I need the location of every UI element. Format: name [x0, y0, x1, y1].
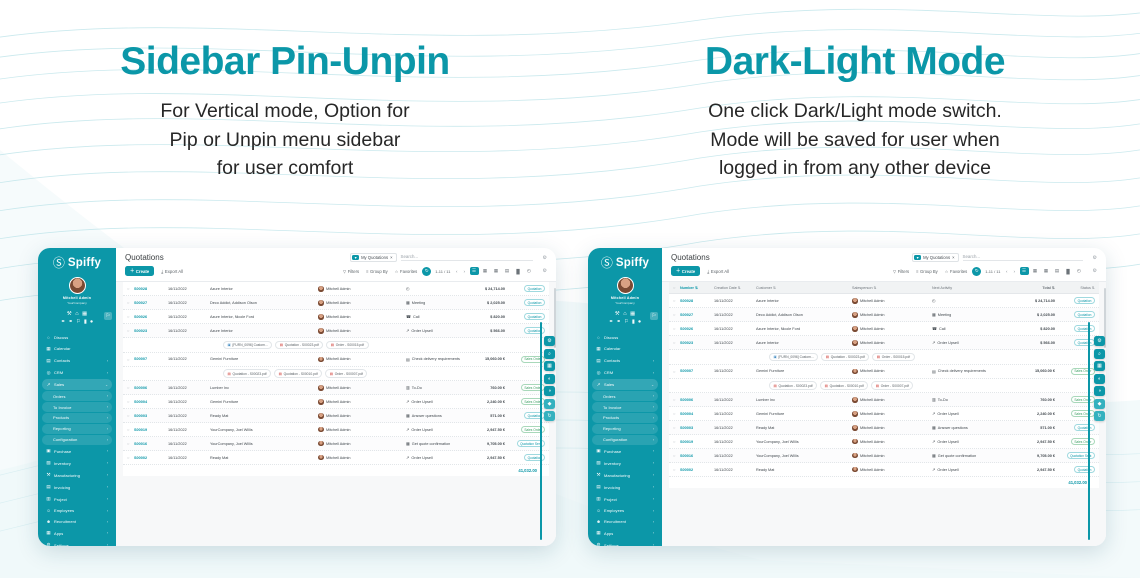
row-checkbox[interactable]: ○ [127, 286, 134, 291]
cell-creation-date: 16/11/2022 [168, 315, 210, 319]
layers-icon: ≡ [366, 269, 368, 274]
cell-total: $ 566.00 [1011, 341, 1055, 345]
cell-number[interactable]: S00019 [680, 440, 714, 444]
table-row[interactable]: ○ S00007 16/11/2022 Gemini Furniture Mit… [123, 353, 549, 367]
sidebar-menu: ○Discuss▦Calendar▤Contacts›◎CRM›↗Sales⌄O… [588, 333, 662, 547]
row-checkbox[interactable]: ○ [127, 441, 134, 446]
link-icon[interactable]: ⚭ [61, 320, 66, 326]
cell-next-activity: ☎ Call [932, 326, 1011, 331]
sidebar-item-to-invoice[interactable]: To Invoice› [42, 402, 112, 411]
cell-total: $ 2,025.00 [1011, 313, 1055, 317]
cell-customer: Gemini Furniture [210, 400, 318, 404]
rail-layout[interactable]: ▦ [544, 361, 555, 371]
view-title: Quotations [125, 253, 164, 262]
filters-label: Filters [348, 269, 359, 274]
table-row[interactable]: ○ S00006 16/11/2022 Lumber Inc Mitchell … [123, 381, 549, 395]
cell-salesperson: Mitchell Admin [852, 397, 932, 403]
cell-number[interactable]: S00023 [134, 329, 168, 333]
column-header-next-activity[interactable]: Next Activity [932, 286, 1011, 290]
close-icon[interactable]: × [952, 255, 954, 260]
sidebar-item-sales[interactable]: ↗Sales⌄ [42, 379, 112, 389]
row-checkbox[interactable]: ○ [127, 357, 134, 362]
bag-icon[interactable]: ▮ [84, 320, 87, 326]
sidebar-item-label: CRM [54, 370, 104, 375]
export-all-button[interactable]: ⤓ Export All [158, 267, 186, 276]
activity-label: Order Upsell [937, 412, 958, 416]
list-view[interactable]: ☰ [470, 267, 479, 275]
table-row[interactable]: ○ S00026 16/11/2022 Azure Interior, Nico… [669, 322, 1099, 336]
select-all-checkbox[interactable]: ○ [673, 285, 680, 290]
sidebar-item-orders[interactable]: Orders› [592, 391, 658, 400]
rail-theme[interactable]: ◐ [544, 374, 555, 384]
subtitle-line: Mode will be saved for user when [570, 126, 1140, 155]
attachment-label: Quotation - S00010.pdf [284, 372, 318, 376]
table-row[interactable]: ○ S00002 16/11/2022 Ready Mat Mitchell A… [123, 451, 549, 465]
create-button[interactable]: ＋ Create [125, 266, 154, 276]
sidebar-item-discuss[interactable]: ○Discuss [42, 333, 112, 342]
image-icon: ▣ [228, 343, 231, 347]
user-profile[interactable]: Mitchell Admin YourCompany [588, 275, 662, 308]
attachment-chip[interactable]: ▤Quotation - S00023.pdf [769, 381, 817, 389]
avatar [318, 328, 324, 334]
row-checkbox[interactable]: ○ [673, 439, 680, 444]
cell-number[interactable]: S00003 [134, 414, 168, 418]
pager-label: 1-11 / 11 [434, 269, 451, 274]
status-badge: Quotation [524, 313, 545, 320]
cell-salesperson: Mitchell Admin [318, 441, 406, 447]
chevron-right-icon: › [653, 485, 654, 489]
row-checkbox[interactable]: ○ [127, 385, 134, 390]
table-row[interactable]: ○ S00003 16/11/2022 Ready Mat Mitchell A… [123, 409, 549, 423]
row-checkbox[interactable]: ○ [673, 425, 680, 430]
plus-icon: ＋ [676, 268, 680, 274]
cell-salesperson: Mitchell Admin [852, 298, 932, 304]
sidebar-item-configuration[interactable]: Configuration› [592, 435, 658, 444]
sidebar-item-apps[interactable]: ▦Apps› [42, 528, 112, 538]
brand-name: Spiffy [68, 257, 101, 269]
sidebar-item-recruitment[interactable]: ☻Recruitment› [42, 517, 112, 526]
sidebar-item-label: Employees [54, 508, 104, 513]
bag-icon[interactable]: ▮ [632, 320, 635, 326]
rail-layout[interactable]: ▦ [1094, 361, 1105, 371]
row-checkbox[interactable]: ○ [127, 427, 134, 432]
cell-total: 760.00 € [461, 386, 505, 390]
table-row[interactable]: ○ S00004 16/11/2022 Gemini Furniture Mit… [669, 407, 1099, 421]
cell-customer: Ready Mat [756, 468, 852, 472]
sidebar: Ⓢ Spiffy Mitchell Admin YourCompany ⚒⌂▦ … [38, 248, 116, 546]
funnel-icon: ▽ [343, 269, 346, 274]
cell-number[interactable]: S00003 [680, 426, 714, 430]
sidebar-item-invoicing[interactable]: ▤Invoicing› [592, 482, 658, 492]
user-profile[interactable]: Mitchell Admin YourCompany [38, 275, 116, 308]
table-row[interactable]: ○ S00007 16/11/2022 Gemini Furniture Mit… [669, 365, 1099, 379]
rail-color[interactable]: ◆ [544, 399, 555, 409]
refresh-button[interactable]: ↻ [972, 267, 981, 276]
target-icon: ◎ [46, 370, 51, 376]
wrench-icon[interactable]: ⚒ [615, 312, 620, 318]
clock-icon: ◴ [932, 298, 936, 303]
list-view[interactable]: ☰ [1020, 267, 1029, 275]
favorites-button[interactable]: ☆Favorites [393, 267, 420, 275]
contacts-icon: ▤ [596, 358, 601, 364]
row-checkbox[interactable]: ○ [127, 413, 134, 418]
chevron-right-icon: › [653, 416, 654, 420]
sidebar-pin-toggle[interactable]: ⚐ [104, 312, 112, 320]
theme-customizer-rail: ⚙⌕▦◐◑◆↻ [544, 336, 555, 421]
view-switcher: ☰▦▦▤█◴ [1020, 267, 1084, 275]
sidebar-item-to-invoice[interactable]: To Invoice› [592, 402, 658, 411]
link-icon[interactable]: ⚭ [68, 320, 73, 326]
cell-number[interactable]: S00004 [134, 400, 168, 404]
row-checkbox[interactable]: ○ [127, 328, 134, 333]
table-row[interactable]: ○ S00026 16/11/2022 Azure Interior, Nico… [123, 310, 549, 324]
chevron-right-icon[interactable]: › [462, 269, 467, 274]
sidebar-item-crm[interactable]: ◎CRM› [42, 367, 112, 377]
sidebar-item-label: Project [54, 497, 104, 502]
cell-creation-date: 16/11/2022 [714, 341, 756, 345]
table-row[interactable]: ○ S00028 16/11/2022 Azure Interior Mitch… [123, 282, 549, 296]
cell-creation-date: 16/11/2022 [714, 426, 756, 430]
row-checkbox[interactable]: ○ [127, 300, 134, 305]
attachment-chip[interactable]: ▣[FURN_0096] Custom... [769, 353, 818, 361]
link-icon[interactable]: ⚭ [609, 320, 614, 326]
rail-reset[interactable]: ↻ [544, 411, 555, 421]
chevron-right-icon: › [107, 405, 108, 409]
rail-search[interactable]: ⌕ [544, 349, 555, 359]
row-checkbox[interactable]: ○ [673, 411, 680, 416]
chevron-right-icon: › [653, 449, 654, 453]
sidebar-item-crm[interactable]: ◎CRM› [592, 367, 658, 377]
table-row[interactable]: ○ S00019 16/11/2022 YourCompany, Joel Wi… [669, 435, 1099, 449]
sidebar-item-orders[interactable]: Orders› [42, 391, 112, 400]
contacts-icon: ▤ [46, 358, 51, 364]
sidebar-item-contacts[interactable]: ▤Contacts› [42, 355, 112, 365]
table-row[interactable]: ○ S00019 16/11/2022 YourCompany, Joel Wi… [123, 423, 549, 437]
cell-creation-date: 16/11/2022 [168, 386, 210, 390]
cell-number[interactable]: S00002 [680, 468, 714, 472]
row-checkbox[interactable]: ○ [673, 369, 680, 374]
cell-number[interactable]: S00026 [134, 315, 168, 319]
page-subtitle-left: For Vertical mode, Option for Pip or Unp… [0, 97, 570, 183]
row-checkbox[interactable]: ○ [127, 455, 134, 460]
chevron-left-icon[interactable]: ‹ [454, 269, 459, 274]
sidebar-item-label: To Invoice [603, 405, 650, 410]
cell-number[interactable]: S00007 [680, 369, 714, 373]
status-badge: Quotation [524, 299, 545, 306]
rail-mode[interactable]: ◑ [544, 386, 555, 396]
sidebar-item-inventory[interactable]: ▧Inventory› [592, 458, 658, 468]
chevron-right-icon: › [653, 520, 654, 524]
row-checkbox[interactable]: ○ [673, 397, 680, 402]
attachment-chip[interactable]: ▤Order - S00007.pdf [871, 381, 913, 389]
kanban-view[interactable]: ▦ [481, 267, 490, 275]
table-row[interactable]: ○ S00023 16/11/2022 Azure Interior Mitch… [123, 324, 549, 338]
row-checkbox[interactable]: ○ [673, 298, 680, 303]
bulb-icon[interactable]: ● [638, 320, 641, 326]
row-checkbox[interactable]: ○ [673, 453, 680, 458]
column-header-status[interactable]: Status ⇅ [1055, 286, 1095, 290]
cell-number[interactable]: S00027 [680, 313, 714, 317]
search-facet[interactable]: ▼ My Quotations × [912, 253, 958, 262]
cell-creation-date: 16/11/2022 [168, 357, 210, 361]
sidebar-item-apps[interactable]: ▦Apps› [592, 528, 658, 538]
pivot-view[interactable]: ▤ [1053, 267, 1062, 275]
table-row[interactable]: ○ S00023 16/11/2022 Azure Interior Mitch… [669, 336, 1099, 350]
cell-number[interactable]: S00002 [134, 456, 168, 460]
home-icon[interactable]: ⌂ [623, 312, 626, 318]
rail-color[interactable]: ◆ [1094, 399, 1105, 409]
export-all-button[interactable]: ⤓ Export All [704, 267, 732, 276]
refresh-button[interactable]: ↻ [422, 267, 431, 276]
content-area: Quotations ▼ My Quotations × Search... ⚙… [662, 248, 1106, 546]
activity-label: Answer questions [412, 414, 442, 418]
attachment-row: ▤Quotation - S00023.pdf▤Quotation - S000… [669, 379, 1099, 394]
sidebar: Ⓢ Spiffy Mitchell Admin YourCompany ⚒⌂▦ … [588, 248, 662, 546]
group-by-button[interactable]: ≡Group By [364, 267, 390, 275]
view-title: Quotations [671, 253, 710, 262]
attachment-chip[interactable]: ▤Quotation - S00010.pdf [820, 381, 868, 389]
avatar [852, 425, 858, 431]
table-row[interactable]: ○ S00016 16/11/2022 YourCompany, Joel Wi… [123, 437, 549, 451]
sidebar-item-project[interactable]: ▥Project› [42, 494, 112, 504]
cell-number[interactable]: S00026 [680, 327, 714, 331]
group-by-button[interactable]: ≡Group By [914, 267, 940, 275]
graph-view[interactable]: █ [1064, 267, 1073, 275]
bulb-icon[interactable]: ● [90, 320, 93, 326]
phone-icon: ☎ [406, 314, 411, 319]
cell-total: 15,060.00 € [1011, 369, 1055, 373]
sidebar-item-project[interactable]: ▥Project› [592, 494, 658, 504]
rail-mode[interactable]: ◑ [1094, 386, 1105, 396]
attachment-chip[interactable]: ▤Quotation - S00010.pdf [274, 369, 322, 377]
sidebar-item-label: Inventory [54, 461, 104, 466]
pin-icon[interactable]: ⚐ [76, 320, 81, 326]
sidebar-pin-toggle[interactable]: ⚐ [650, 312, 658, 320]
rail-theme[interactable]: ◐ [1094, 374, 1105, 384]
sidebar-item-discuss[interactable]: ○Discuss [592, 333, 658, 342]
cell-total: $ 566.00 [461, 329, 505, 333]
person-add-icon: ☻ [596, 519, 601, 524]
heading-column-right: Dark-Light Mode One click Dark/Light mod… [570, 0, 1140, 230]
subtitle-line: logged in from any other device [570, 154, 1140, 183]
sidebar-item-recruitment[interactable]: ☻Recruitment› [592, 517, 658, 526]
sidebar-item-sales[interactable]: ↗Sales⌄ [592, 379, 658, 389]
cell-number[interactable]: S00004 [680, 412, 714, 416]
cell-customer: Ready Mat [210, 414, 318, 418]
cell-number[interactable]: S00007 [134, 357, 168, 361]
sidebar-item-label: Inventory [604, 461, 650, 466]
grid-icon[interactable]: ▦ [82, 312, 87, 318]
cell-creation-date: 16/11/2022 [714, 313, 756, 317]
table-row[interactable]: ○ S00016 16/11/2022 YourCompany, Joel Wi… [669, 449, 1099, 463]
table-row[interactable]: ○ S00006 16/11/2022 Lumber Inc Mitchell … [669, 393, 1099, 407]
sidebar-item-calendar[interactable]: ▦Calendar [42, 343, 112, 353]
cell-number[interactable]: S00019 [134, 428, 168, 432]
attachment-chip[interactable]: ▤Order - S00015.pdf [326, 341, 368, 349]
filters-button[interactable]: ▽Filters [891, 267, 911, 275]
table-row[interactable]: ○ S00027 16/11/2022 Deco Addict, Addison… [123, 296, 549, 310]
chevron-left-icon[interactable]: ‹ [1004, 269, 1009, 274]
wrench-icon[interactable]: ⚒ [67, 312, 72, 318]
column-header-creation-date[interactable]: Creation Date ⇅ [714, 286, 756, 290]
cell-number[interactable]: S00023 [680, 341, 714, 345]
star-icon: ☆ [395, 269, 399, 274]
activity-view[interactable]: ◴ [525, 267, 534, 275]
attachment-chip[interactable]: ▤Quotation - S00023.pdf [223, 369, 271, 377]
chart-up-icon: ↗ [406, 427, 409, 432]
clock-icon: ◴ [406, 286, 410, 291]
gear-icon[interactable]: ⚙ [1093, 255, 1097, 261]
column-header-salesperson[interactable]: Salesperson ⇅ [852, 286, 932, 290]
column-header-total[interactable]: Total ⇅ [1011, 286, 1055, 290]
table-row[interactable]: ○ S00028 16/11/2022 Azure Interior Mitch… [669, 294, 1099, 308]
create-button[interactable]: ＋ Create [671, 266, 700, 276]
sidebar-item-reporting[interactable]: Reporting› [592, 424, 658, 433]
avatar [852, 312, 858, 318]
cell-number[interactable]: S00027 [134, 301, 168, 305]
sidebar-item-products[interactable]: Products› [42, 413, 112, 422]
sidebar-item-manufacturing[interactable]: ⚒Manufacturing› [42, 470, 112, 480]
sidebar-item-reporting[interactable]: Reporting› [42, 424, 112, 433]
attachment-chip[interactable]: ▤Quotation - S00023.pdf [821, 353, 869, 361]
pin-icon[interactable]: ⚐ [624, 320, 629, 326]
spiral-s-logo-icon: Ⓢ [53, 257, 65, 269]
phone-icon: ☎ [932, 326, 937, 331]
brand-logo[interactable]: Ⓢ Spiffy [588, 255, 662, 275]
sidebar-item-label: Products [53, 415, 104, 420]
cell-number[interactable]: S00006 [134, 386, 168, 390]
activity-view[interactable]: ◴ [1075, 267, 1084, 275]
sidebar-item-purchase[interactable]: ▣Purchase› [42, 446, 112, 456]
gear-icon[interactable]: ⚙ [543, 255, 547, 261]
search-facet[interactable]: ▼ My Quotations × [350, 253, 396, 262]
view-settings-icon[interactable]: ⚙ [543, 268, 547, 274]
favorites-label: Favorites [400, 269, 417, 274]
chevron-right-icon[interactable]: › [1012, 269, 1017, 274]
search-input[interactable]: Search... [963, 254, 1083, 261]
sidebar-item-products[interactable]: Products› [592, 413, 658, 422]
sidebar-item-employees[interactable]: ☺Employees› [592, 506, 658, 515]
view-settings-icon[interactable]: ⚙ [1093, 268, 1097, 274]
app-mockup-right: Ⓢ Spiffy Mitchell Admin YourCompany ⚒⌂▦ … [588, 248, 1106, 546]
sidebar-item-employees[interactable]: ☺Employees› [42, 506, 112, 515]
status-badge: Quotation Sent [1067, 452, 1095, 459]
sidebar-item-inventory[interactable]: ▧Inventory› [42, 458, 112, 468]
favorites-button[interactable]: ☆Favorites [943, 267, 970, 275]
cell-salesperson: Mitchell Admin [318, 455, 406, 461]
filters-button[interactable]: ▽Filters [341, 267, 361, 275]
calendar-icon: ▦ [46, 346, 51, 352]
sidebar-item-manufacturing[interactable]: ⚒Manufacturing› [592, 470, 658, 480]
pivot-view[interactable]: ▤ [503, 267, 512, 275]
cell-salesperson: Mitchell Admin [852, 312, 932, 318]
calendar-view[interactable]: ▦ [1042, 267, 1051, 275]
cell-number[interactable]: S00016 [680, 454, 714, 458]
cell-customer: Azure Interior, Nicole Ford [756, 327, 852, 331]
cell-number[interactable]: S00028 [680, 299, 714, 303]
graph-view[interactable]: █ [514, 267, 523, 275]
sidebar-item-invoicing[interactable]: ▤Invoicing› [42, 482, 112, 492]
sidebar-item-settings[interactable]: ⚙Settings› [42, 540, 112, 546]
home-icon[interactable]: ⌂ [75, 312, 78, 318]
chart-up-icon: ↗ [932, 411, 935, 416]
table-row[interactable]: ○ S00004 16/11/2022 Gemini Furniture Mit… [123, 395, 549, 409]
row-checkbox[interactable]: ○ [673, 467, 680, 472]
attachment-chip[interactable]: ▤Order - S00007.pdf [325, 369, 367, 377]
table-row[interactable]: ○ S00003 16/11/2022 Ready Mat Mitchell A… [669, 421, 1099, 435]
cell-status: Quotation [505, 454, 545, 461]
sidebar-item-label: Settings [604, 543, 650, 546]
apps-icon: ▦ [46, 530, 51, 536]
sidebar-item-settings[interactable]: ⚙Settings› [592, 540, 658, 546]
tools-icon: ⚒ [46, 472, 51, 478]
sidebar-item-configuration[interactable]: Configuration› [42, 435, 112, 444]
salesperson-name: Mitchell Admin [860, 398, 884, 402]
cell-salesperson: Mitchell Admin [852, 439, 932, 445]
cell-status: Sales Order [505, 356, 545, 363]
cell-number[interactable]: S00006 [680, 398, 714, 402]
quick-actions-row-2: ⚭⚭⚐▮● [38, 320, 116, 326]
cell-number[interactable]: S00016 [134, 442, 168, 446]
table-row[interactable]: ○ S00027 16/11/2022 Deco Addict, Addison… [669, 308, 1099, 322]
close-icon[interactable]: × [390, 255, 392, 260]
cell-status: Quotation [505, 313, 545, 320]
attachment-chip[interactable]: ▤Order - S00015.pdf [872, 353, 914, 361]
sidebar-item-contacts[interactable]: ▤Contacts› [592, 355, 658, 365]
column-header-number[interactable]: Number ⇅ [680, 286, 714, 290]
rail-settings[interactable]: ⚙ [1094, 336, 1105, 346]
rail-settings[interactable]: ⚙ [544, 336, 555, 346]
column-header-customer[interactable]: Customer ⇅ [756, 286, 852, 290]
calendar-view[interactable]: ▦ [492, 267, 501, 275]
toolbar-right-group: ▽Filters ≡Group By ☆Favorites ↻ 1-11 / 1… [891, 267, 1097, 276]
row-checkbox[interactable]: ○ [673, 312, 680, 317]
attachment-chip[interactable]: ▣[FURN_0096] Custom... [223, 341, 272, 349]
clipboard-icon: ▥ [596, 496, 601, 502]
salesperson-name: Mitchell Admin [326, 329, 350, 333]
cell-salesperson: Mitchell Admin [318, 385, 406, 391]
search-input[interactable]: Search... [401, 254, 533, 261]
sidebar-item-calendar[interactable]: ▦Calendar [592, 343, 658, 353]
invoice-icon: ▤ [596, 484, 601, 490]
avatar [852, 340, 858, 346]
link-icon[interactable]: ⚭ [616, 320, 621, 326]
row-checkbox[interactable]: ○ [127, 399, 134, 404]
cell-number[interactable]: S00028 [134, 287, 168, 291]
grid-icon[interactable]: ▦ [630, 312, 635, 318]
chart-up-icon: ↗ [596, 382, 601, 388]
sidebar-item-label: Invoicing [604, 485, 650, 490]
row-checkbox[interactable]: ○ [127, 314, 134, 319]
activity-label: Order Upsell [411, 428, 432, 432]
row-checkbox[interactable]: ○ [673, 340, 680, 345]
sidebar-item-purchase[interactable]: ▣Purchase› [592, 446, 658, 456]
kanban-view[interactable]: ▦ [1031, 267, 1040, 275]
calendar-icon: ▦ [596, 346, 601, 352]
brand-logo[interactable]: Ⓢ Spiffy [38, 255, 116, 275]
rail-reset[interactable]: ↻ [1094, 411, 1105, 421]
table-row[interactable]: ○ S00002 16/11/2022 Ready Mat Mitchell A… [669, 463, 1099, 477]
toolbar-action-row: ＋ Create ⤓ Export All ▽Filters ≡Group By… [125, 262, 547, 281]
attachment-chip[interactable]: ▤Quotation - S00023.pdf [275, 341, 323, 349]
pdf-icon: ▤ [228, 372, 231, 376]
salesperson-name: Mitchell Admin [326, 386, 350, 390]
avatar [852, 397, 858, 403]
attachment-label: Quotation - S00023.pdf [779, 384, 813, 388]
row-checkbox[interactable]: ○ [673, 326, 680, 331]
cell-total: 2,240.00 € [1011, 412, 1055, 416]
rail-search[interactable]: ⌕ [1094, 349, 1105, 359]
